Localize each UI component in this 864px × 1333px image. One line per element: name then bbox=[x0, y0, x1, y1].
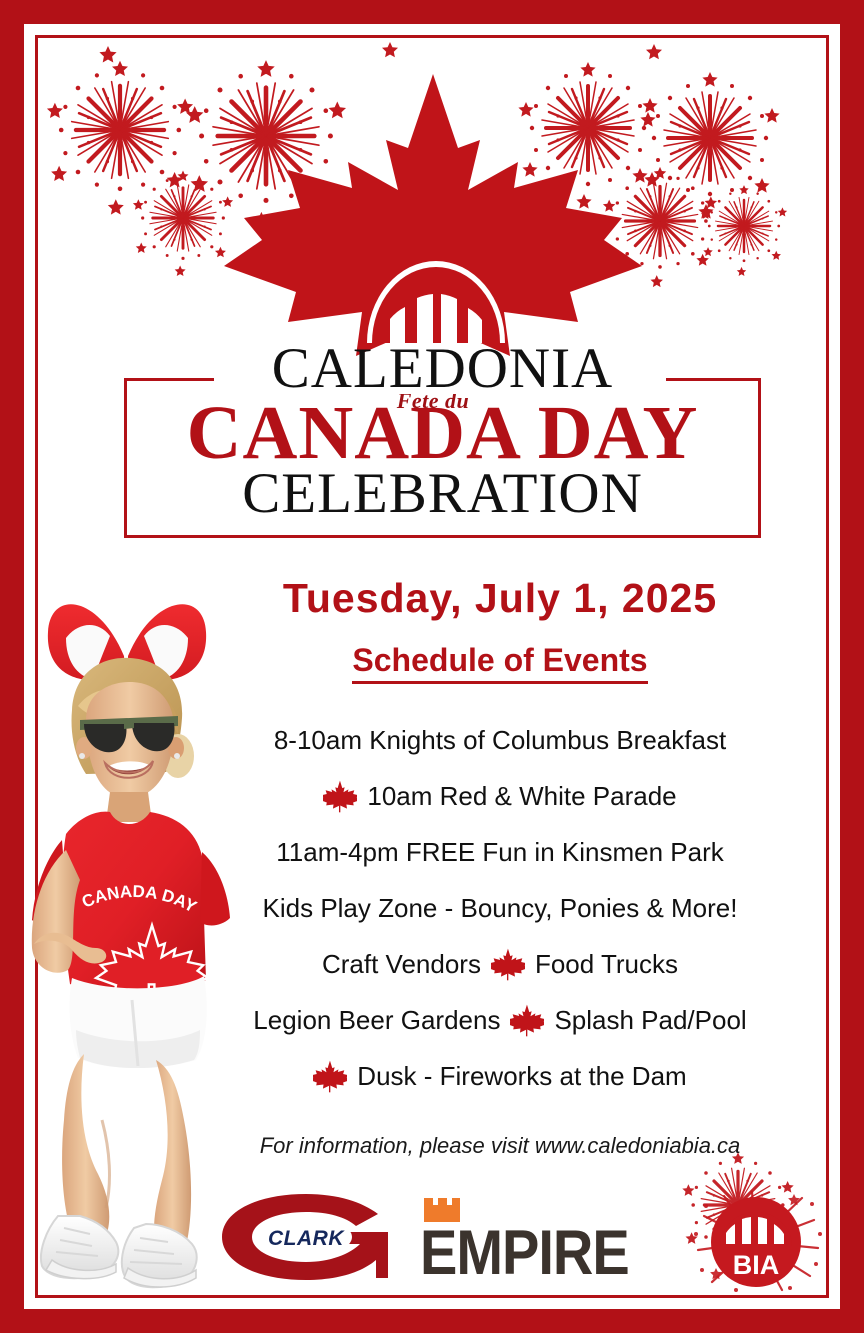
caledonia-canada-day-logo: Fete du bbox=[218, 70, 648, 360]
sponsor-logos: CLARK EMPIRE bbox=[190, 1190, 830, 1295]
schedule-heading-text: Schedule of Events bbox=[352, 642, 647, 684]
info-website-line: For information, please visit www.caledo… bbox=[190, 1133, 810, 1159]
schedule-row: Dusk - Fireworks at the Dam bbox=[190, 1048, 810, 1104]
schedule-row: Legion Beer Gardens Splash Pad/Pool bbox=[190, 992, 810, 1048]
event-date: Tuesday, July 1, 2025 bbox=[200, 575, 800, 622]
title-line-caledonia: CALEDONIA bbox=[124, 340, 761, 397]
schedule-row: 8-10am Knights of Columbus Breakfast bbox=[190, 712, 810, 768]
shorts bbox=[70, 976, 207, 1068]
schedule-item-text: Food Trucks bbox=[535, 949, 678, 980]
empire-logo-text: EMPIRE bbox=[420, 1216, 629, 1289]
schedule-heading: Schedule of Events bbox=[200, 642, 800, 679]
schedule-row: 10am Red & White Parade bbox=[190, 768, 810, 824]
maple-leaf-bullet-icon bbox=[313, 1059, 347, 1093]
bia-logo: BIA bbox=[690, 1190, 825, 1295]
girl-canada-day-photo: CANADA DAY bbox=[6, 560, 246, 1290]
schedule-row: 11am-4pm FREE Fun in Kinsmen Park bbox=[190, 824, 810, 880]
schedule-item-text: Legion Beer Gardens bbox=[253, 1005, 500, 1036]
poster-canvas: Fete du CALEDONIA CANADA DAY CELEBRATION… bbox=[0, 0, 864, 1333]
dam-bridge-icon bbox=[361, 245, 511, 345]
schedule-item-text: Splash Pad/Pool bbox=[554, 1005, 746, 1036]
maple-leaf-bullet-icon bbox=[491, 947, 525, 981]
schedule-item-text: Kids Play Zone - Bouncy, Ponies & More! bbox=[263, 893, 738, 924]
empire-logo: EMPIRE bbox=[420, 1196, 660, 1284]
schedule-item-text: 8-10am Knights of Columbus Breakfast bbox=[274, 725, 726, 756]
schedule-item-text: 11am-4pm FREE Fun in Kinsmen Park bbox=[276, 837, 723, 868]
bia-logo-text: BIA bbox=[733, 1250, 780, 1280]
schedule-row: Craft Vendors Food Trucks bbox=[190, 936, 810, 992]
clark-logo-text: CLARK bbox=[268, 1227, 345, 1250]
schedule-item-text: Dusk - Fireworks at the Dam bbox=[357, 1061, 686, 1092]
schedule-item-text: Craft Vendors bbox=[322, 949, 481, 980]
maple-leaf-bullet-icon bbox=[323, 779, 357, 813]
maple-leaf-bullet-icon bbox=[510, 1003, 544, 1037]
poster-title: CALEDONIA CANADA DAY CELEBRATION bbox=[124, 340, 761, 522]
title-line-canada-day: CANADA DAY bbox=[124, 395, 761, 471]
schedule-row: Kids Play Zone - Bouncy, Ponies & More! bbox=[190, 880, 810, 936]
schedule-item-text: 10am Red & White Parade bbox=[367, 781, 676, 812]
schedule-list: 8-10am Knights of Columbus Breakfast 10a… bbox=[190, 712, 810, 1104]
